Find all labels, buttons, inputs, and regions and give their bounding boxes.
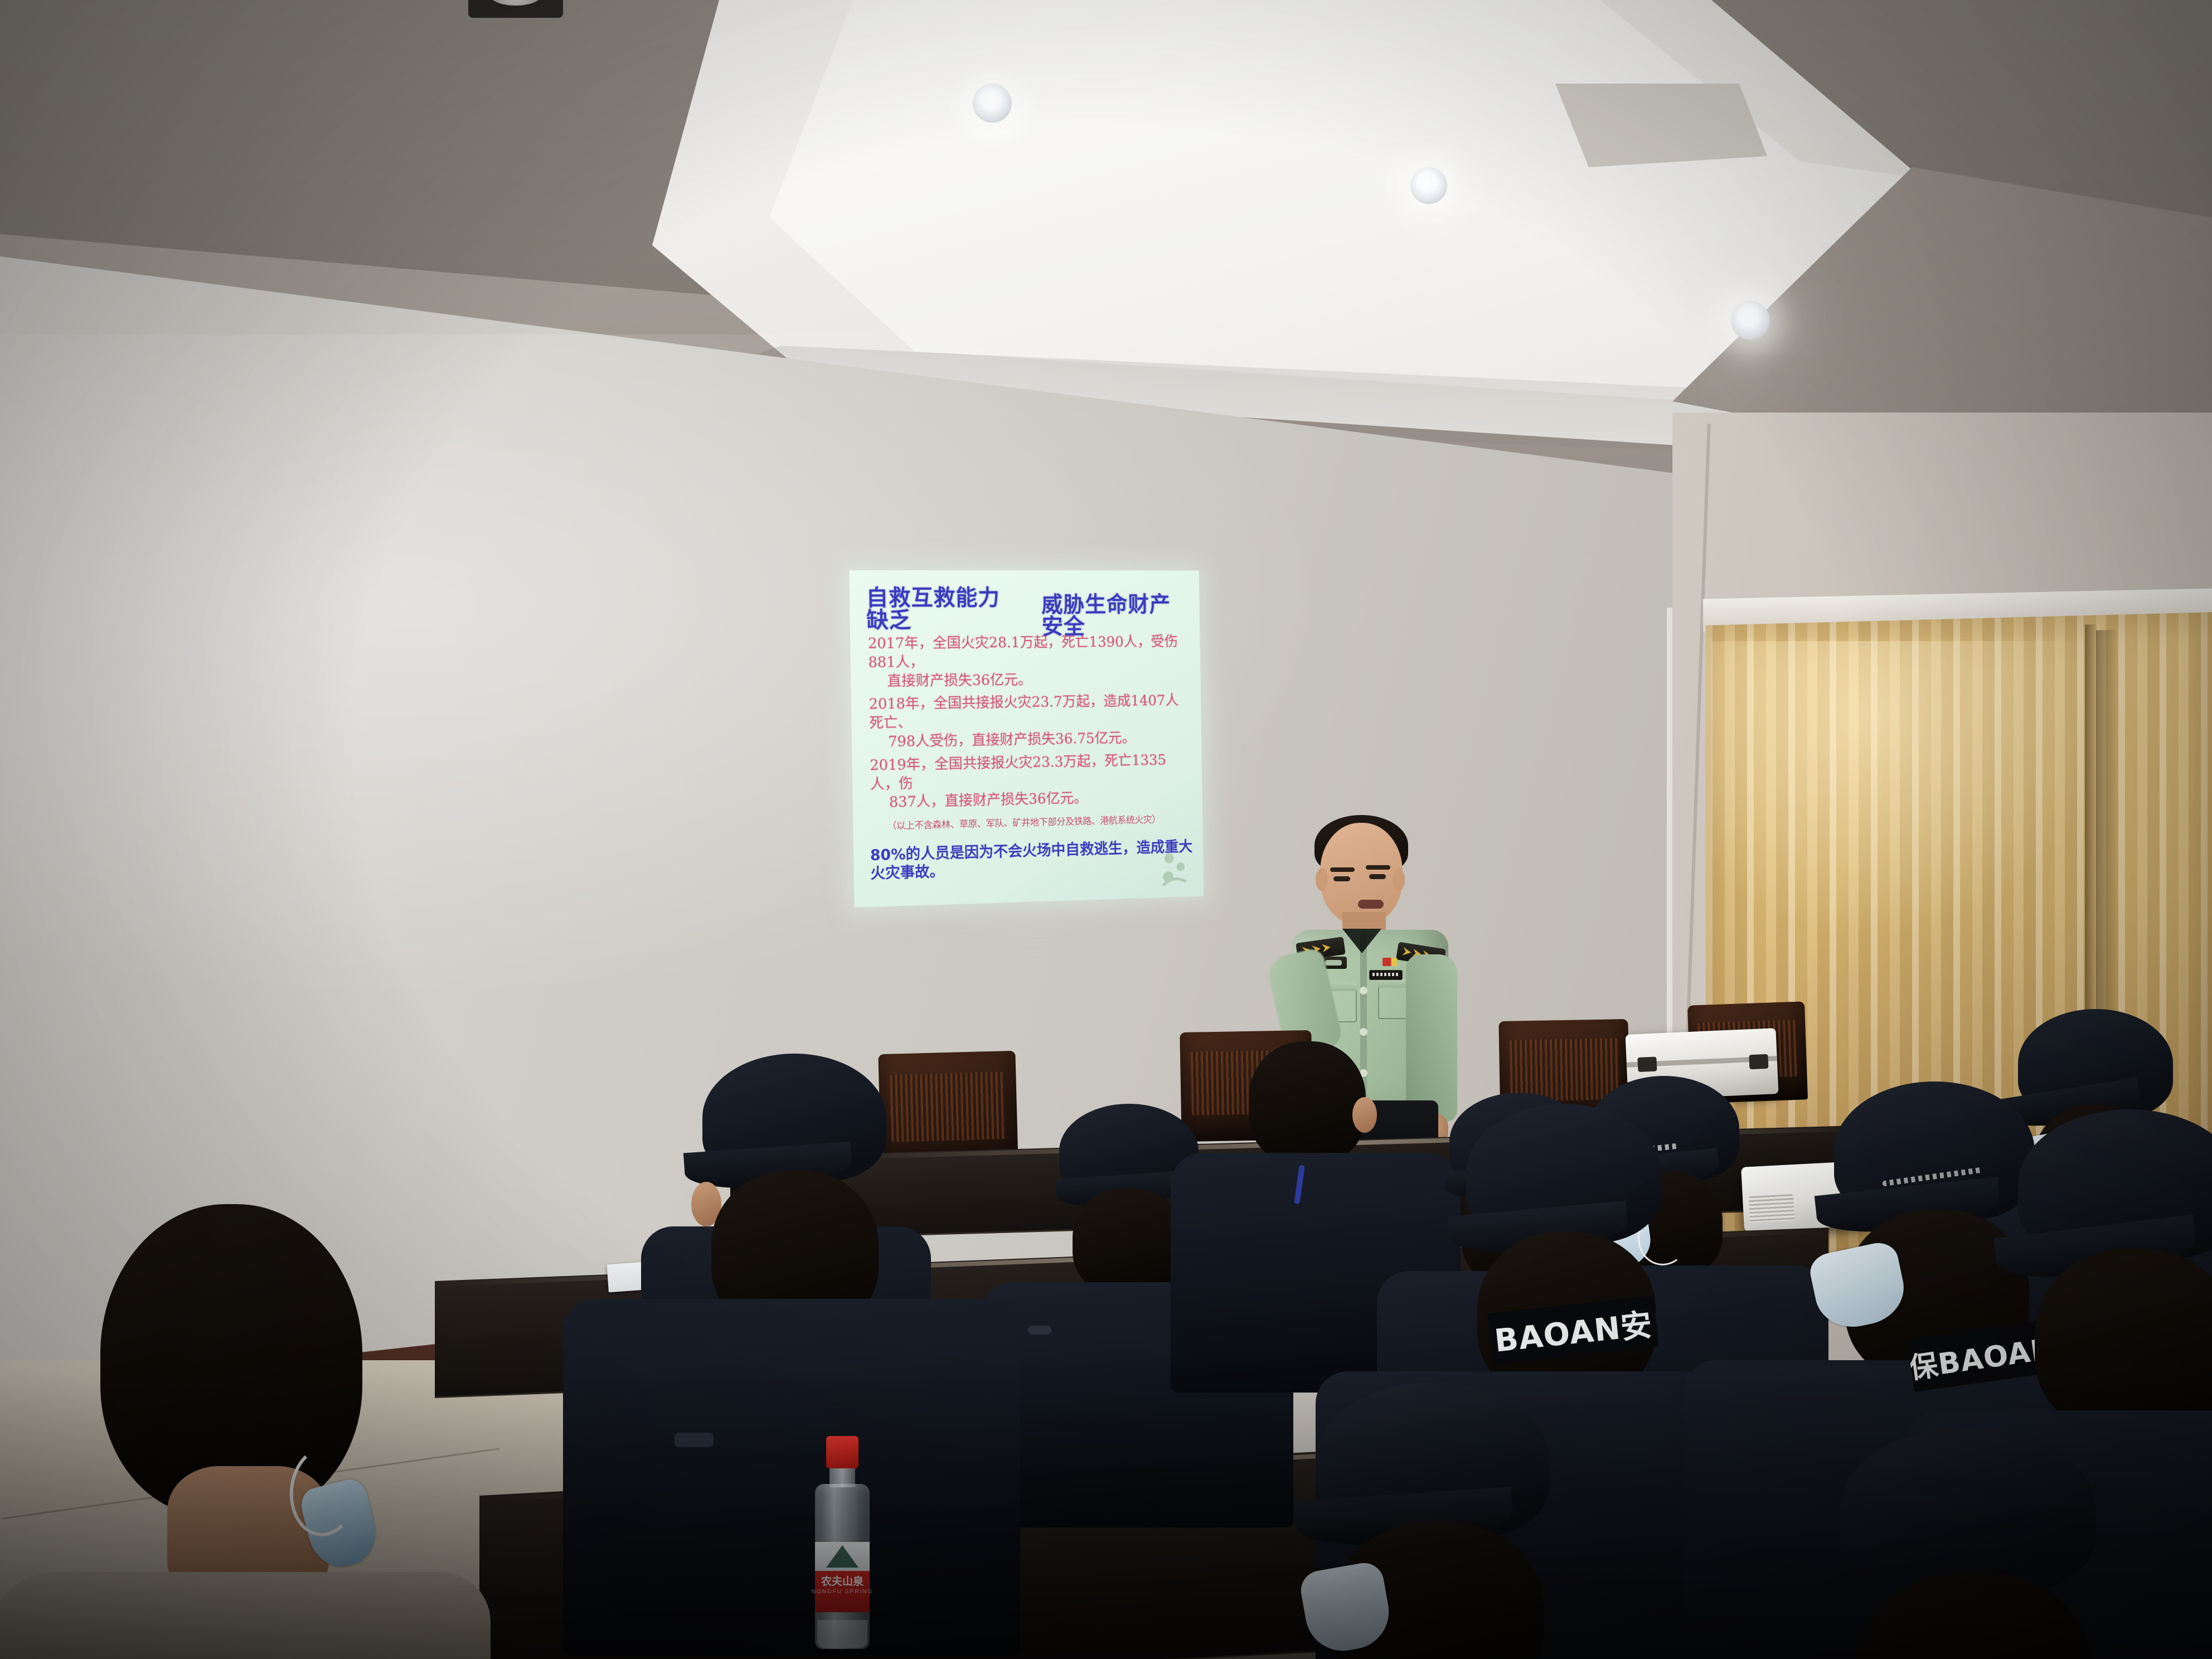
slide-stat-2018-line2: 798人受伤，直接财产损失36.75亿元。 xyxy=(870,729,1191,753)
attendee-shoulder-loop xyxy=(1028,1326,1051,1335)
attendee-shoulders xyxy=(0,1572,491,1659)
slide-watermark-logo xyxy=(1157,850,1190,889)
cap-icon xyxy=(1840,1427,2096,1594)
attendee-ear xyxy=(1352,1097,1377,1133)
slide-statistics: 2017年，全国火灾28.1万起，死亡1390人，受伤881人， 直接财产损失3… xyxy=(868,633,1192,813)
slide-highlight-80-text: 的人员是因为不会火场中自救逃生，造成重大火灾事故。 xyxy=(870,838,1192,882)
presenter-flag-pin xyxy=(1382,958,1397,966)
bottle-cap[interactable] xyxy=(826,1436,858,1468)
slide-stat-2019-line2: 837人，直接财产损失36亿元。 xyxy=(870,787,1192,813)
presenter-mouth xyxy=(1358,900,1384,909)
slide-stat-2017-line1: 2017年，全国火灾28.1万起，死亡1390人，受伤881人， xyxy=(868,634,1178,671)
ceiling-device xyxy=(468,0,563,18)
slide-highlight-80-pct: 80% xyxy=(870,846,906,865)
bottle-brand-en: NONGFU SPRING xyxy=(809,1589,875,1595)
presenter-eye xyxy=(1333,876,1350,881)
slide-title-right: 威胁生命财产安全 xyxy=(1041,594,1190,638)
curtain-backlight-glow xyxy=(1711,641,2102,931)
slide-stat-2019-line1: 2019年，全国共接报火灾23.3万起，死亡1335人，伤 xyxy=(870,752,1166,793)
recessed-downlight xyxy=(973,84,1012,123)
projector-case-latch[interactable] xyxy=(1749,1054,1768,1069)
attendee-shoulders xyxy=(563,1299,1020,1656)
recessed-downlight xyxy=(1731,301,1770,340)
slide-stat-2017-line2: 直接财产损失36亿元。 xyxy=(869,670,1190,691)
meeting-room-photo: 自救互救能力缺乏 威胁生命财产安全 2017年，全国火灾28.1万起，死亡139… xyxy=(0,0,2212,1659)
projected-slide: 自救互救能力缺乏 威胁生命财产安全 2017年，全国火灾28.1万起，死亡139… xyxy=(849,570,1204,908)
slide-footnote: （以上不含森林、草原、军队、矿井地下部分及铁路、港航系统火灾） xyxy=(887,811,1192,832)
slide-title: 自救互救能力缺乏 威胁生命财产安全 xyxy=(866,586,1189,631)
slide-title-left: 自救互救能力缺乏 xyxy=(866,587,1019,632)
presenter-shirt-button xyxy=(1360,987,1367,995)
presenter-head xyxy=(1320,823,1403,924)
water-bottle[interactable]: 农夫山泉 NONGFU SPRING xyxy=(809,1436,875,1651)
presenter-brow xyxy=(1330,867,1355,872)
ceiling-tray-notch xyxy=(1555,84,1767,167)
presenter-right-arm xyxy=(1406,954,1457,1122)
presenter-shirt-button xyxy=(1360,1028,1367,1036)
slide-stat-2018: 2018年，全国共接报火灾23.7万起，造成1407人死亡、 798人受伤，直接… xyxy=(869,692,1191,752)
slide-stat-2018-line1: 2018年，全国共接报火灾23.7万起，造成1407人死亡、 xyxy=(869,693,1178,732)
presenter-brow xyxy=(1366,865,1390,870)
attendee-head xyxy=(1073,1189,1184,1294)
projector-vent xyxy=(1749,1194,1794,1223)
bottle-brand-cn: 农夫山泉 xyxy=(809,1573,875,1588)
attendee-shoulder-loop xyxy=(675,1433,714,1447)
presenter-nameplate xyxy=(1369,970,1403,980)
attendee-head xyxy=(1249,1041,1366,1164)
projector-case-latch[interactable] xyxy=(1637,1057,1657,1072)
presenter-eye xyxy=(1369,874,1386,879)
attendee-head xyxy=(2035,1249,2212,1433)
presenter-ear xyxy=(1316,869,1328,891)
slide-highlight-80: 80%的人员是因为不会火场中自救逃生，造成重大火灾事故。 xyxy=(870,838,1194,884)
bottle-water xyxy=(817,1620,867,1648)
recessed-downlight xyxy=(1410,167,1447,204)
slide-stat-2019: 2019年，全国共接报火灾23.3万起，死亡1335人，伤 837人，直接财产损… xyxy=(870,751,1192,813)
bottle-neck xyxy=(829,1465,855,1487)
presenter-ear xyxy=(1393,869,1405,891)
slide-stat-2017: 2017年，全国火灾28.1万起，死亡1390人，受伤881人， 直接财产损失3… xyxy=(868,633,1190,691)
